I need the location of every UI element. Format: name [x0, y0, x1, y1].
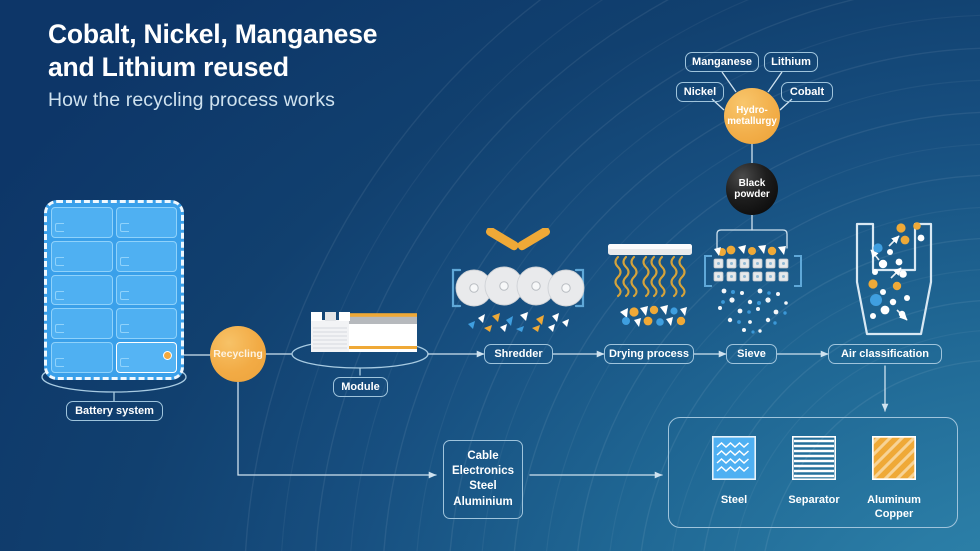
material-aluminum-copper[interactable]: Aluminum Copper [849, 436, 939, 522]
label-air-classification[interactable]: Air classification [828, 344, 942, 364]
label-sieve[interactable]: Sieve [726, 344, 777, 364]
battery-cell [51, 275, 113, 306]
battery-cell-grid [51, 207, 177, 373]
battery-connector-dot [163, 351, 172, 360]
page-title-line2: and Lithium reused [48, 51, 508, 84]
label-module[interactable]: Module [333, 377, 388, 397]
battery-cell [116, 308, 178, 339]
label-shredder[interactable]: Shredder [484, 344, 553, 364]
battery-cell [116, 207, 178, 238]
black-powder-label-line2: powder [734, 189, 770, 201]
battery-cell [116, 241, 178, 272]
output-materials-panel: Steel Separator [668, 417, 958, 528]
material-label-copper: Copper [849, 508, 939, 522]
battery-cell [51, 241, 113, 272]
metal-label-manganese[interactable]: Manganese [685, 52, 759, 72]
material-label-steel: Steel [689, 494, 779, 508]
byproduct-electronics: Electronics [452, 464, 514, 479]
metal-label-cobalt[interactable]: Cobalt [781, 82, 833, 102]
black-powder-label-line1: Black [734, 178, 770, 190]
material-label-separator: Separator [769, 494, 859, 508]
page-title: Cobalt, Nickel, Manganese and Lithium re… [48, 18, 508, 84]
recycling-node[interactable]: Recycling [210, 326, 266, 382]
drying-coils-icon [604, 240, 696, 332]
material-steel[interactable]: Steel [689, 436, 779, 508]
air-classification-funnel-icon [845, 220, 943, 338]
diagonal-orange-swatch [872, 436, 916, 480]
shredder-rollers-icon [448, 228, 588, 332]
label-drying-process[interactable]: Drying process [604, 344, 694, 364]
byproducts-box[interactable]: Cable Electronics Steel Aluminium [443, 440, 523, 519]
page-title-line1: Cobalt, Nickel, Manganese [48, 18, 508, 51]
battery-cell [51, 342, 113, 373]
byproduct-steel: Steel [452, 479, 514, 494]
infographic-canvas: Cobalt, Nickel, Manganese and Lithium re… [0, 0, 980, 551]
battery-module-icon [303, 310, 419, 358]
hydrometallurgy-label-line2: metallurgy [727, 116, 777, 127]
metal-label-lithium[interactable]: Lithium [764, 52, 818, 72]
sieve-mesh-icon [698, 240, 808, 340]
page-subtitle: How the recycling process works [48, 89, 508, 112]
battery-cell [116, 275, 178, 306]
metal-label-nickel[interactable]: Nickel [676, 82, 724, 102]
material-label-aluminum-copper: Aluminum Copper [849, 494, 939, 522]
material-separator[interactable]: Separator [769, 436, 859, 508]
label-battery-system[interactable]: Battery system [66, 401, 163, 421]
byproduct-aluminium: Aluminium [452, 495, 514, 510]
wavy-blue-swatch [712, 436, 756, 480]
hydrometallurgy-label-line1: Hydro- [727, 105, 777, 116]
byproduct-cable: Cable [452, 449, 514, 464]
material-label-aluminum: Aluminum [849, 494, 939, 508]
hydrometallurgy-node[interactable]: Hydro- metallurgy [724, 88, 780, 144]
black-powder-node[interactable]: Black powder [726, 163, 778, 215]
battery-cell [51, 207, 113, 238]
battery-cell [51, 308, 113, 339]
striped-white-swatch [792, 436, 836, 480]
